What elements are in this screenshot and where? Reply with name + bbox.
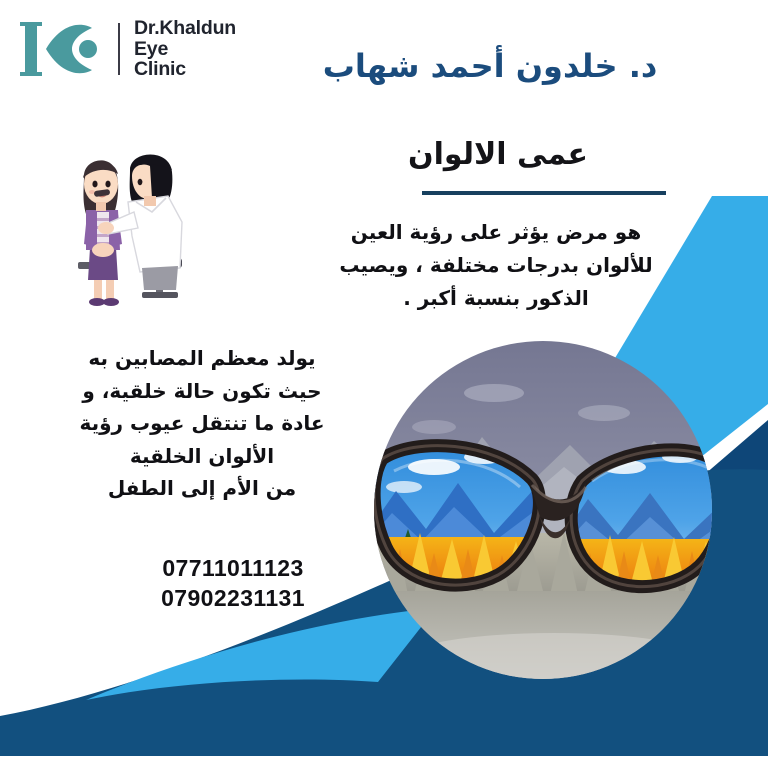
light-blue-wedge-bottom-left xyxy=(86,608,436,700)
eye-clinic-k-logo-icon xyxy=(16,18,112,80)
logo-divider xyxy=(118,23,120,75)
topic-title-underline xyxy=(422,191,666,195)
phone-number-1: 07711011123 xyxy=(108,553,358,583)
paragraph-line: حيث تكون حالة خلقية، و xyxy=(58,375,346,408)
phone-number-2: 07902231131 xyxy=(108,583,358,613)
description-paragraph-2: يولد معظم المصابين به حيث تكون حالة خلقي… xyxy=(58,342,346,505)
clinic-logo: Dr.Khaldun Eye Clinic xyxy=(16,12,236,86)
poster-canvas: Dr.Khaldun Eye Clinic د. خلدون أحمد شهاب… xyxy=(0,0,768,768)
photo-content xyxy=(374,341,712,679)
paragraph-line: يولد معظم المصابين به xyxy=(58,342,346,375)
doctor-name-heading: د. خلدون أحمد شهاب xyxy=(270,46,710,86)
clinic-name-text: Dr.Khaldun Eye Clinic xyxy=(134,18,236,80)
paragraph-line: من الأم إلى الطفل xyxy=(58,472,346,505)
paragraph-line: الذكور بنسبة أكبر . xyxy=(286,282,706,315)
doctor-examining-patient-illustration xyxy=(56,140,194,312)
contact-phone-numbers: 07711011123 07902231131 xyxy=(108,553,358,613)
paragraph-line: عادة ما تنتقل عيوب رؤية xyxy=(58,407,346,440)
bottom-white-strip xyxy=(0,756,768,768)
paragraph-line: هو مرض يؤثر على رؤية العين xyxy=(286,216,706,249)
sunglasses-colour-vision-photo xyxy=(374,341,712,679)
description-paragraph-1: هو مرض يؤثر على رؤية العين للألوان بدرجا… xyxy=(286,216,706,315)
paragraph-line: الألوان الخلقية xyxy=(58,440,346,473)
topic-title: عمى الالوان xyxy=(288,136,708,174)
paragraph-line: للألوان بدرجات مختلفة ، ويصيب xyxy=(286,249,706,282)
